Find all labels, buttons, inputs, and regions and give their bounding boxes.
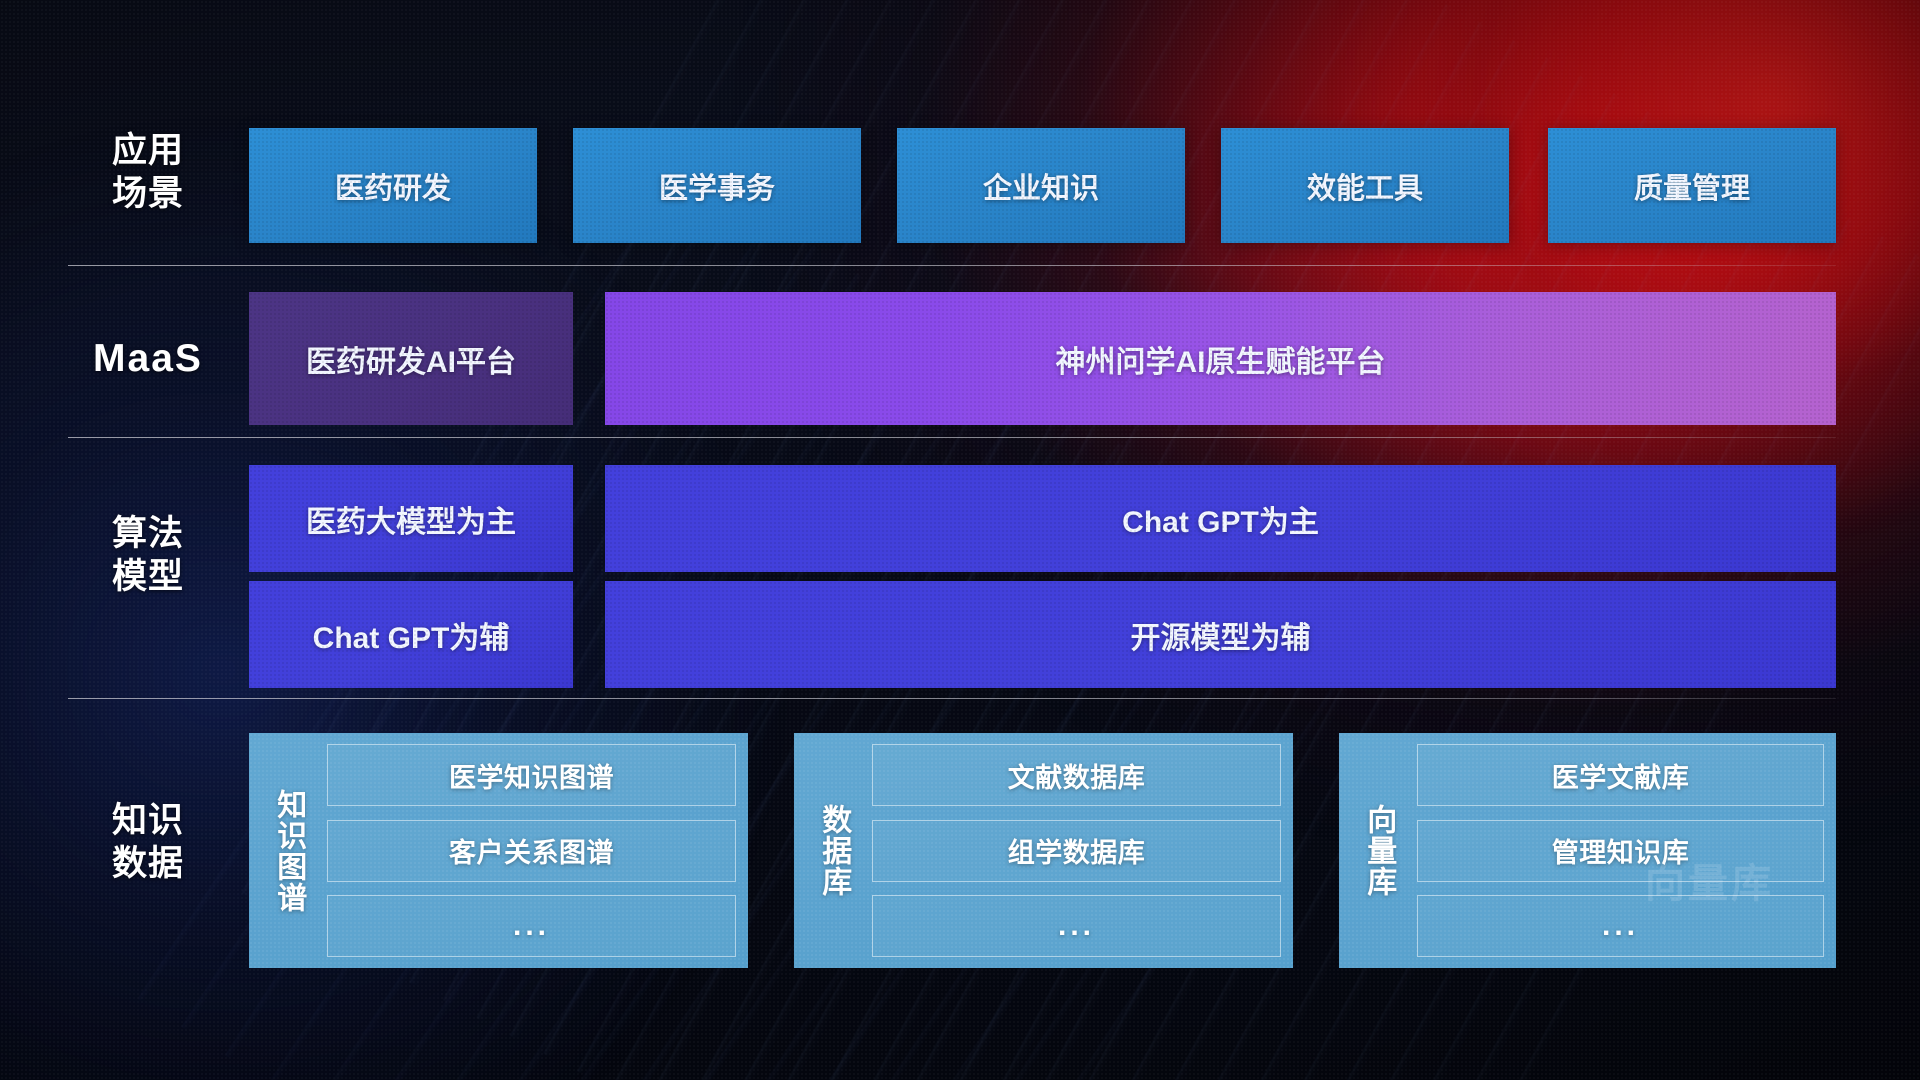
knowledge-item-more[interactable]: ... <box>1417 895 1824 957</box>
knowledge-group-title: 知识图谱 <box>249 744 327 957</box>
algo-card-chatgpt-primary[interactable]: Chat GPT为主 <box>605 465 1836 572</box>
algo-card-opensource-secondary[interactable]: 开源模型为辅 <box>605 581 1836 688</box>
knowledge-group-item-list: 医学知识图谱 客户关系图谱 ... <box>327 744 736 957</box>
algo-card-label: Chat GPT为辅 <box>313 613 510 657</box>
row-label-application-scenario: 应用 场景 <box>68 130 228 215</box>
knowledge-item[interactable]: 医学文献库 <box>1417 744 1824 806</box>
maas-card-label: 医药研发AI平台 <box>306 337 516 381</box>
knowledge-group-item-list: 医学文献库 管理知识库 ... <box>1417 744 1824 957</box>
app-card-label: 医药研发 <box>335 165 451 207</box>
knowledge-item-more[interactable]: ... <box>327 895 736 957</box>
algo-card-label: Chat GPT为主 <box>1122 497 1319 541</box>
algo-card-label: 开源模型为辅 <box>1131 613 1311 657</box>
divider-algorithm-knowledge <box>68 698 1836 699</box>
knowledge-item[interactable]: 客户关系图谱 <box>327 820 736 882</box>
app-card-quality-management[interactable]: 质量管理 <box>1548 128 1836 243</box>
knowledge-group-title: 数据库 <box>794 744 872 957</box>
app-card-pharma-rd[interactable]: 医药研发 <box>249 128 537 243</box>
knowledge-group-database[interactable]: 数据库 文献数据库 组学数据库 ... <box>794 733 1293 968</box>
knowledge-item[interactable]: 医学知识图谱 <box>327 744 736 806</box>
app-card-label: 企业知识 <box>983 165 1099 207</box>
algo-card-chatgpt-secondary[interactable]: Chat GPT为辅 <box>249 581 573 688</box>
maas-card-label: 神州问学AI原生赋能平台 <box>1056 337 1386 381</box>
row-label-algorithm-model: 算法 模型 <box>68 513 228 598</box>
row-label-maas: MaaS <box>68 335 228 383</box>
app-card-efficiency-tools[interactable]: 效能工具 <box>1221 128 1509 243</box>
knowledge-group-item-list: 文献数据库 组学数据库 ... <box>872 744 1281 957</box>
architecture-diagram: 应用 场景 医药研发 医学事务 企业知识 效能工具 质量管理 MaaS 医药研发… <box>0 0 1920 1080</box>
knowledge-item-more[interactable]: ... <box>872 895 1281 957</box>
knowledge-group-title: 向量库 <box>1339 744 1417 957</box>
app-card-medical-affairs[interactable]: 医学事务 <box>573 128 861 243</box>
app-card-label: 医学事务 <box>659 165 775 207</box>
algo-card-pharma-llm-primary[interactable]: 医药大模型为主 <box>249 465 573 572</box>
knowledge-group-vector-store[interactable]: 向量库 向量库 医学文献库 管理知识库 ... <box>1339 733 1836 968</box>
app-card-label: 效能工具 <box>1307 165 1423 207</box>
slide-canvas: 应用 场景 医药研发 医学事务 企业知识 效能工具 质量管理 MaaS 医药研发… <box>0 0 1920 1080</box>
algo-card-label: 医药大模型为主 <box>306 497 516 541</box>
knowledge-item[interactable]: 组学数据库 <box>872 820 1281 882</box>
maas-card-shenzhou-wenxue-platform[interactable]: 神州问学AI原生赋能平台 <box>605 292 1836 425</box>
divider-maas-algorithm <box>68 437 1836 438</box>
app-card-label: 质量管理 <box>1634 165 1750 207</box>
app-card-enterprise-knowledge[interactable]: 企业知识 <box>897 128 1185 243</box>
row-label-knowledge-data: 知识 数据 <box>68 800 228 885</box>
knowledge-item[interactable]: 管理知识库 <box>1417 820 1824 882</box>
knowledge-group-knowledge-graph[interactable]: 知识图谱 医学知识图谱 客户关系图谱 ... <box>249 733 748 968</box>
maas-card-pharma-ai-platform[interactable]: 医药研发AI平台 <box>249 292 573 425</box>
knowledge-item[interactable]: 文献数据库 <box>872 744 1281 806</box>
divider-application-maas <box>68 265 1836 266</box>
